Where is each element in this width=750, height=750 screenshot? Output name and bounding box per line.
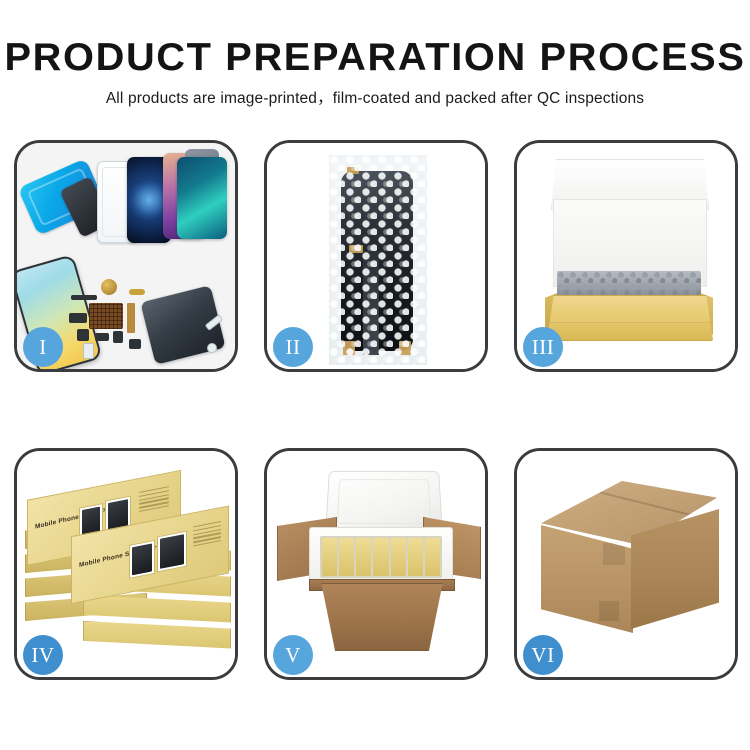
box-front-panel-icon bbox=[547, 295, 713, 341]
step-badge-4: IV bbox=[23, 635, 63, 675]
camera-module-icon bbox=[77, 329, 89, 341]
packed-box-item bbox=[408, 538, 423, 576]
box-front-4 bbox=[83, 621, 231, 653]
taptic-part-icon bbox=[129, 339, 141, 349]
bubble-texture-overlay bbox=[329, 155, 427, 365]
packed-box-item bbox=[425, 538, 440, 576]
flex-cable-icon bbox=[127, 303, 135, 333]
logic-board-icon bbox=[89, 303, 123, 329]
carton-tab-upper-icon bbox=[603, 543, 625, 565]
step-badge-6: VI bbox=[523, 635, 563, 675]
product-preparation-process-page: PRODUCT PREPARATION PROCESS All products… bbox=[0, 0, 750, 750]
packed-boxes-row bbox=[320, 536, 442, 578]
connector-part-icon bbox=[71, 295, 97, 300]
process-step-panel-4[interactable]: Mobile Phone Spare Parts Mobile Phone Sp… bbox=[14, 448, 238, 680]
page-subtitle: All products are image-printed，film-coat… bbox=[0, 88, 750, 110]
phone-teal-screen-icon bbox=[177, 157, 227, 239]
packed-box-item bbox=[339, 538, 354, 576]
step-badge-5: V bbox=[273, 635, 313, 675]
gold-flex-part-icon bbox=[129, 289, 145, 295]
header: PRODUCT PREPARATION PROCESS All products… bbox=[0, 0, 750, 110]
step-badge-2: II bbox=[273, 327, 313, 367]
process-step-panel-5[interactable]: V bbox=[264, 448, 488, 680]
packed-box-item bbox=[322, 538, 337, 576]
screw-icon bbox=[207, 343, 217, 353]
step-badge-1: I bbox=[23, 327, 63, 367]
step-badge-3: III bbox=[523, 327, 563, 367]
process-step-grid: I II bbox=[14, 140, 736, 680]
packed-box-item bbox=[373, 538, 388, 576]
carton-left-face-icon bbox=[541, 525, 633, 633]
packed-box-item bbox=[356, 538, 371, 576]
sim-tray-icon bbox=[83, 343, 94, 359]
box-window-front-2 bbox=[157, 531, 187, 573]
speaker-part-icon bbox=[101, 279, 117, 295]
carton-tab-lower-icon bbox=[599, 601, 619, 621]
carton-front-panel-icon bbox=[313, 583, 451, 651]
process-step-panel-2[interactable]: II bbox=[264, 140, 488, 372]
packed-box-item bbox=[391, 538, 406, 576]
vibrator-part-icon bbox=[95, 333, 109, 341]
bracket-part-icon bbox=[69, 313, 87, 323]
process-step-panel-1[interactable]: I bbox=[14, 140, 238, 372]
button-part-icon bbox=[113, 331, 123, 343]
page-title: PRODUCT PREPARATION PROCESS bbox=[0, 36, 750, 80]
box-window-front-1 bbox=[129, 540, 155, 579]
bubble-wrap-pouch bbox=[329, 155, 427, 365]
process-step-panel-3[interactable]: III bbox=[514, 140, 738, 372]
process-step-panel-6[interactable]: VI bbox=[514, 448, 738, 680]
